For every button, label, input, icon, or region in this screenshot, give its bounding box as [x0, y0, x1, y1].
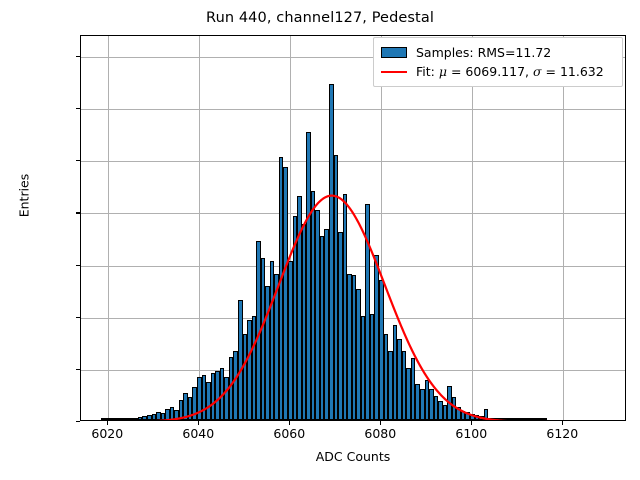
- x-tick-label: 6060: [273, 426, 305, 441]
- gridline-vertical: [563, 36, 564, 420]
- x-tick-label: 6100: [455, 426, 487, 441]
- plot-area: [80, 35, 626, 421]
- x-axis-label: ADC Counts: [80, 449, 626, 464]
- chart-title: Run 440, channel127, Pedestal: [0, 10, 640, 26]
- x-tick-mark: [289, 421, 290, 425]
- x-tick-mark: [380, 421, 381, 425]
- legend-patch-icon: [381, 47, 407, 58]
- y-tick-mark: [76, 421, 80, 422]
- chart-figure: Run 440, channel127, Pedestal Entries AD…: [0, 0, 640, 480]
- x-tick-label: 6080: [364, 426, 396, 441]
- histogram-bar: [543, 418, 548, 420]
- legend-item-samples: Samples: RMS=11.72: [381, 43, 614, 62]
- x-tick-mark: [198, 421, 199, 425]
- chart-legend: Samples: RMS=11.72 Fit: μ = 6069.117, σ …: [373, 37, 623, 87]
- gridline-horizontal: [81, 266, 625, 267]
- gridline-horizontal: [81, 213, 625, 214]
- legend-label-fit: Fit: μ = 6069.117, σ = 11.632: [416, 64, 604, 79]
- x-tick-mark: [562, 421, 563, 425]
- x-tick-mark: [471, 421, 472, 425]
- legend-item-fit: Fit: μ = 6069.117, σ = 11.632: [381, 62, 614, 81]
- x-tick-label: 6040: [182, 426, 214, 441]
- y-axis-label: Entries: [17, 126, 32, 266]
- gridline-horizontal: [81, 109, 625, 110]
- x-tick-label: 6120: [546, 426, 578, 441]
- x-tick-mark: [107, 421, 108, 425]
- gridline-vertical: [472, 36, 473, 420]
- legend-line-icon: [381, 71, 407, 73]
- x-tick-label: 6020: [91, 426, 123, 441]
- gridline-vertical: [199, 36, 200, 420]
- gridline-vertical: [108, 36, 109, 420]
- legend-label-samples: Samples: RMS=11.72: [416, 45, 551, 60]
- gridline-horizontal: [81, 161, 625, 162]
